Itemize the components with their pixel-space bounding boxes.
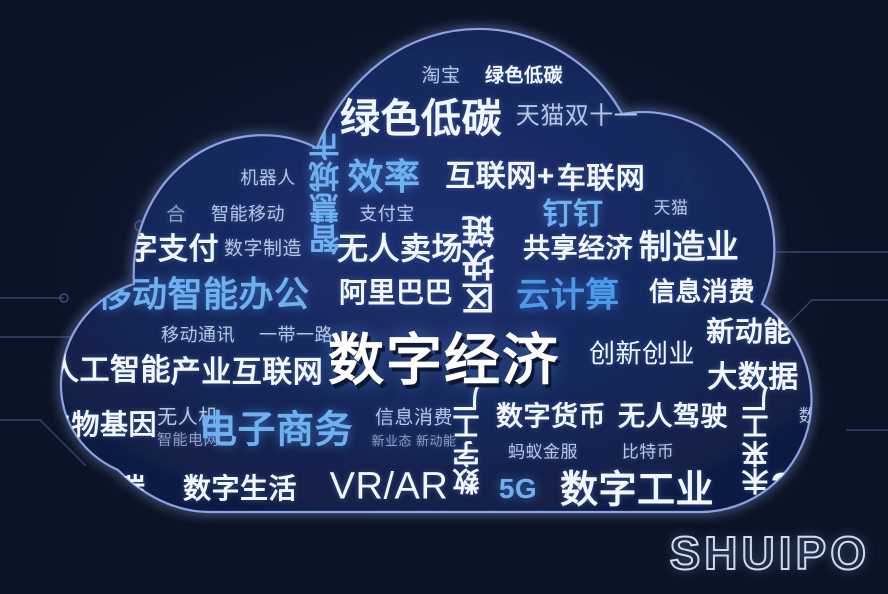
word-tag: 天猫: [654, 194, 689, 219]
word-tag: 5G: [499, 473, 537, 505]
word-tag: 一带一路: [259, 321, 333, 347]
word-tag: 数字工业: [560, 459, 714, 514]
word-tag: 效率: [347, 148, 420, 200]
word-tag-vertical: 区块链: [457, 215, 505, 316]
digital-economy-wordcloud-poster: 淘宝绿色低碳绿色低碳天猫双十一机器人效率互联网+车联网智能移动支付宝钉钉天猫合数…: [0, 0, 888, 594]
word-tag: 无人卖场: [337, 224, 463, 269]
word-tag: 数字货币: [496, 395, 606, 434]
word-tag: 电子商务: [199, 399, 353, 454]
word-tag: 淘宝: [421, 61, 460, 88]
word-tag: 人工智能: [49, 345, 171, 389]
word-tag-vertical: 未来工厂: [738, 385, 777, 495]
word-tag: 共享经济: [523, 227, 633, 266]
word-tag: 制造业: [639, 220, 740, 268]
word-tag: 合: [166, 200, 186, 227]
word-tag: VR/AR: [330, 466, 449, 509]
word-tag: 数字生活: [183, 467, 297, 507]
word-tag-vertical: 数字工厂: [449, 385, 488, 495]
word-tag: 信息消费: [375, 403, 453, 430]
word-tag: 数字制造: [224, 234, 302, 261]
word-tag: 机器人: [240, 164, 296, 190]
word-tag: 创新创业: [589, 334, 695, 371]
word-tag: 智能移动: [211, 200, 285, 226]
word-tag: 阿里巴巴: [339, 271, 453, 311]
page-title: 数字经济: [328, 316, 560, 397]
word-tag: 新业态 新动能: [371, 431, 456, 450]
word-tag: 信息消费: [649, 272, 755, 309]
word-tag-vertical: 智慧城市: [305, 129, 350, 255]
word-tag: 无人驾驶: [618, 395, 728, 434]
word-tag: 支付宝: [359, 200, 415, 226]
watermark-label: SHUIPO: [670, 526, 870, 580]
word-tag: 产业互联网: [171, 347, 324, 391]
word-tag: 绿色低碳: [485, 61, 563, 88]
word-tag: 绿色低碳: [340, 86, 502, 144]
word-tag: 互联网+: [445, 151, 555, 195]
word-tag: 云计算: [516, 268, 620, 317]
word-tag: 移动通讯: [161, 321, 235, 347]
